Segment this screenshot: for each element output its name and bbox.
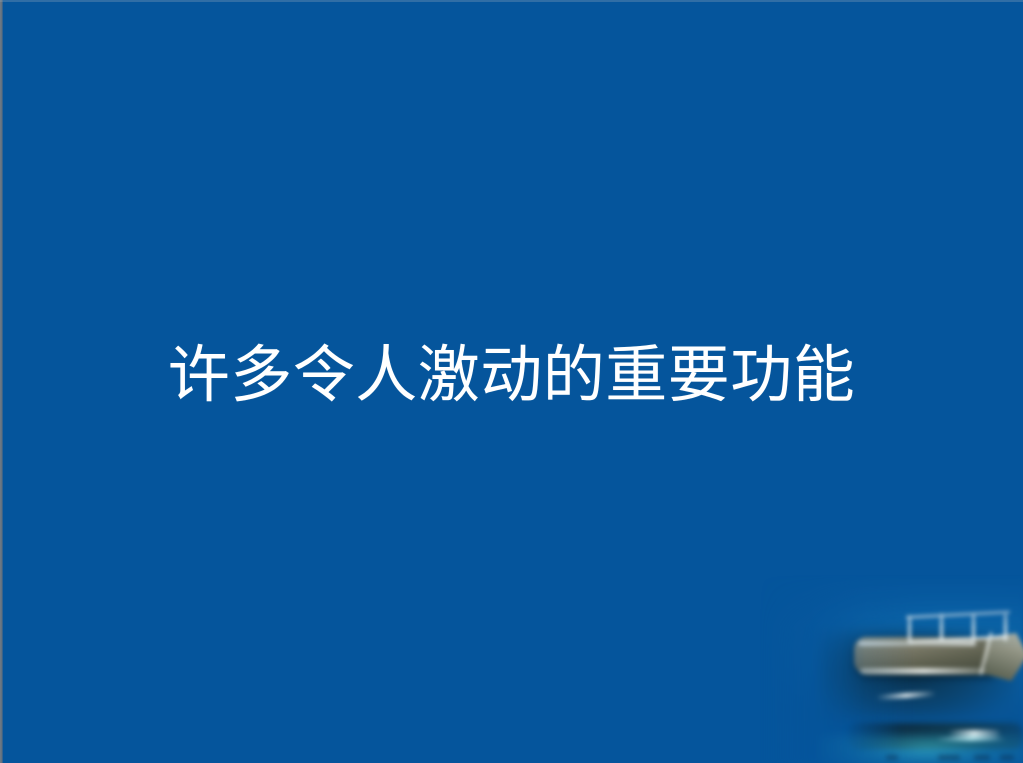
- presentation-slide: 许多令人激动的重要功能: [0, 0, 1023, 763]
- debris-speck: [974, 755, 990, 760]
- shipwreck-photo: [700, 575, 1023, 763]
- hull-lower-highlight: [860, 668, 988, 674]
- shipwreck-photo-inner: [700, 575, 1023, 763]
- slide-left-border: [0, 0, 3, 763]
- railing-post-3: [972, 613, 975, 641]
- debris-speck: [886, 755, 898, 760]
- railing-post-2: [940, 613, 943, 641]
- boat-railing: [906, 613, 1010, 641]
- seafloor-glow-line: [936, 737, 1006, 741]
- slide-title: 许多令人激动的重要功能: [0, 340, 1023, 411]
- debris-speck: [938, 755, 960, 760]
- slide-top-border: [0, 0, 1023, 2]
- railing-post-4: [1004, 614, 1007, 641]
- railing-post-1: [908, 615, 911, 641]
- debris-speck: [1000, 755, 1014, 760]
